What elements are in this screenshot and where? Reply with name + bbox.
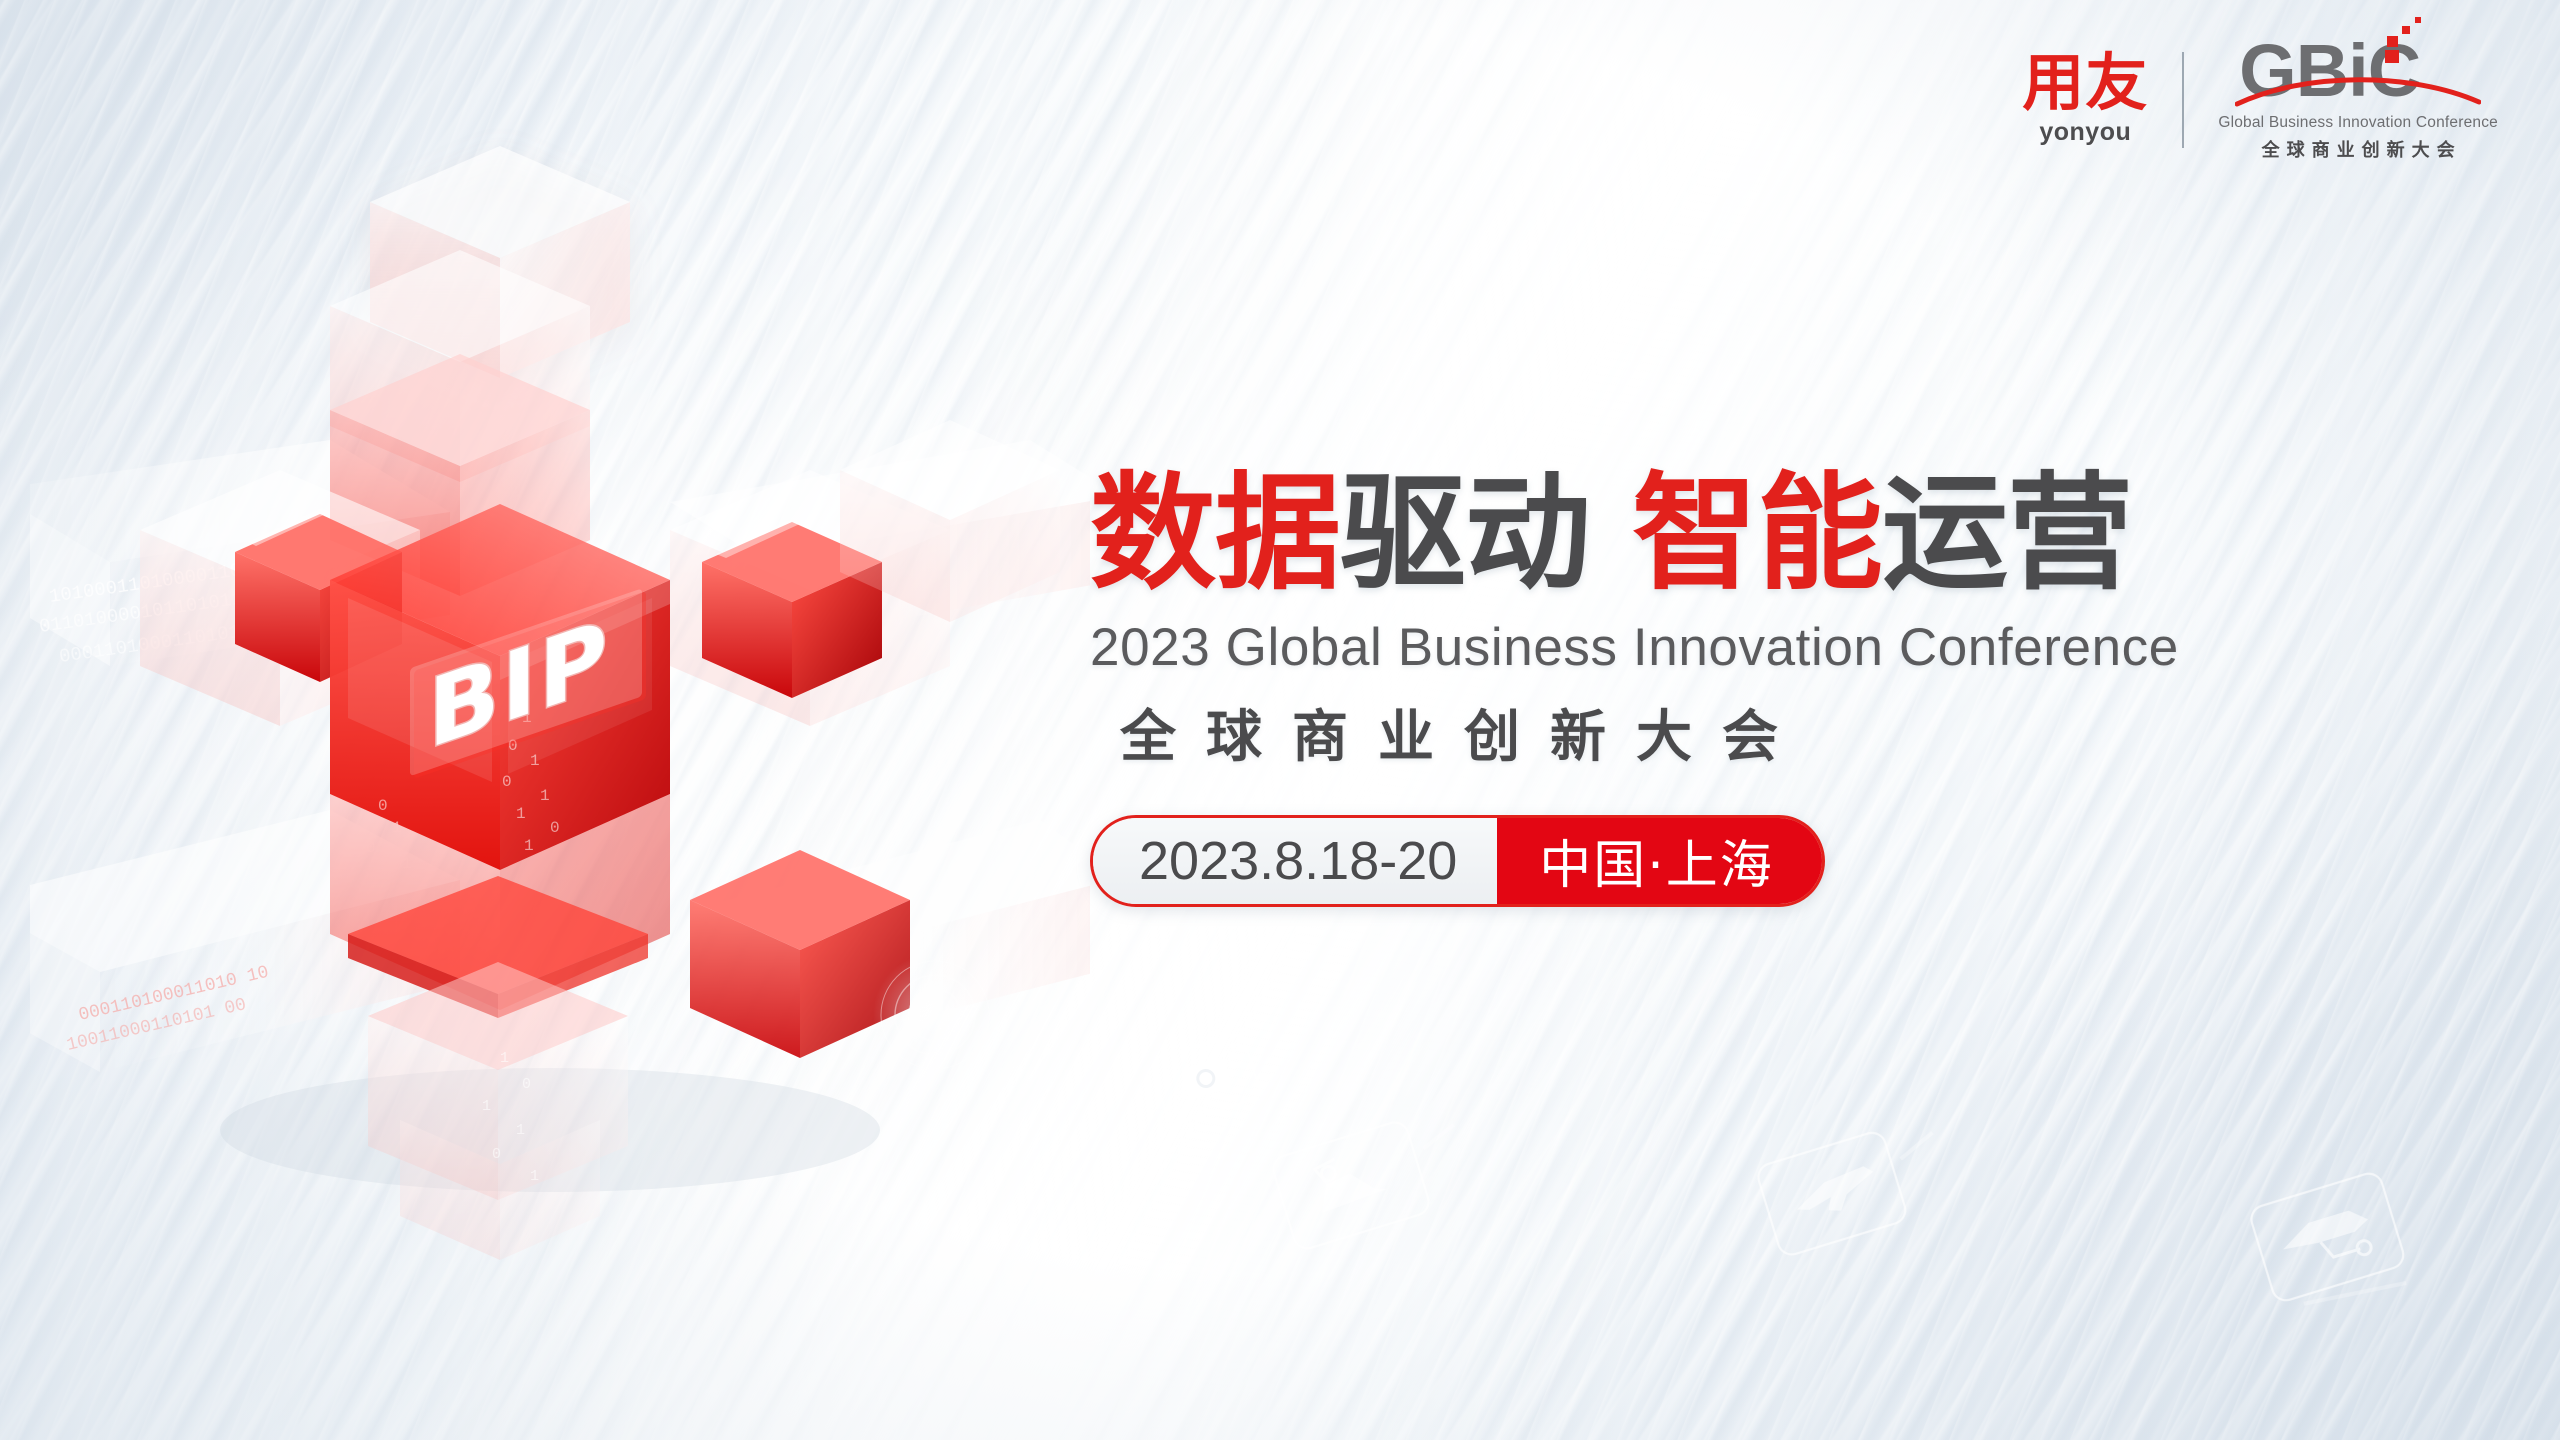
svg-text:0: 0 [502, 773, 512, 791]
gbic-pixel-2 [2402, 26, 2410, 34]
headline-part-4: 运营 [1882, 460, 2132, 607]
event-location: 中国·上海 [1497, 818, 1822, 904]
subtitle-english: 2023 Global Business Innovation Conferen… [1090, 617, 2510, 678]
gbic-pixel-1 [2387, 36, 2398, 47]
svg-text:1: 1 [516, 805, 526, 823]
headline-part-2: 驱动 [1340, 460, 1590, 607]
svg-text:1: 1 [530, 1168, 539, 1185]
svg-text:1: 1 [530, 752, 540, 770]
svg-text:1: 1 [500, 1050, 509, 1067]
crane-icon [2248, 1170, 2412, 1321]
headline-part-1: 数据 [1090, 460, 1340, 607]
event-date: 2023.8.18-20 [1093, 818, 1497, 904]
svg-text:0: 0 [492, 1146, 501, 1163]
gbic-logo[interactable]: GBiC Global Business Innovation Conferen… [2184, 38, 2498, 162]
headline-part-3: 智能 [1632, 460, 1882, 607]
gbic-tagline-cn: 全球商业创新大会 [2255, 136, 2462, 162]
svg-text:0: 0 [378, 797, 388, 815]
gbic-pixel-4 [2385, 50, 2399, 63]
copy-block: 数据驱动智能运营 2023 Global Business Innovation… [1090, 470, 2510, 907]
lens-flare [873, 953, 997, 1077]
svg-text:1: 1 [516, 1122, 525, 1139]
subtitle-chinese: 全球商业创新大会 [1090, 692, 2510, 773]
yonyou-logo-cn: 用友 [2022, 53, 2148, 114]
svg-text:0: 0 [550, 819, 560, 837]
excavator-icon [1270, 1106, 1476, 1252]
airplane-icon [1755, 1115, 1955, 1258]
crystal-snowflake-svg: 101000110100001101 0 0110100001011010110… [30, 110, 1090, 1280]
svg-text:0: 0 [522, 1076, 531, 1093]
camera-icon [1150, 1021, 1298, 1125]
gbic-arc-icon [2235, 74, 2481, 108]
yonyou-logo[interactable]: 用友 yonyou [2022, 53, 2182, 148]
svg-text:1: 1 [540, 787, 550, 805]
poster-canvas: 101000110100001101 0 0110100001011010110… [0, 0, 2560, 1440]
gbic-pixel-3 [2415, 17, 2421, 23]
svg-text:1: 1 [482, 1098, 491, 1115]
date-location-badge[interactable]: 2023.8.18-20 中国·上海 [1090, 815, 1825, 907]
logo-bar: 用友 yonyou GBiC Global Business Innovatio… [2022, 38, 2498, 162]
gbic-tagline-en: Global Business Innovation Conference [2218, 114, 2498, 132]
yonyou-logo-en: yonyou [2039, 118, 2131, 147]
page-title: 数据驱动智能运营 [1090, 470, 2510, 599]
gbic-wordmark: GBiC [2239, 38, 2477, 110]
crystal-snowflake-artwork: 101000110100001101 0 0110100001011010110… [30, 110, 1090, 1280]
svg-text:1: 1 [524, 837, 534, 855]
